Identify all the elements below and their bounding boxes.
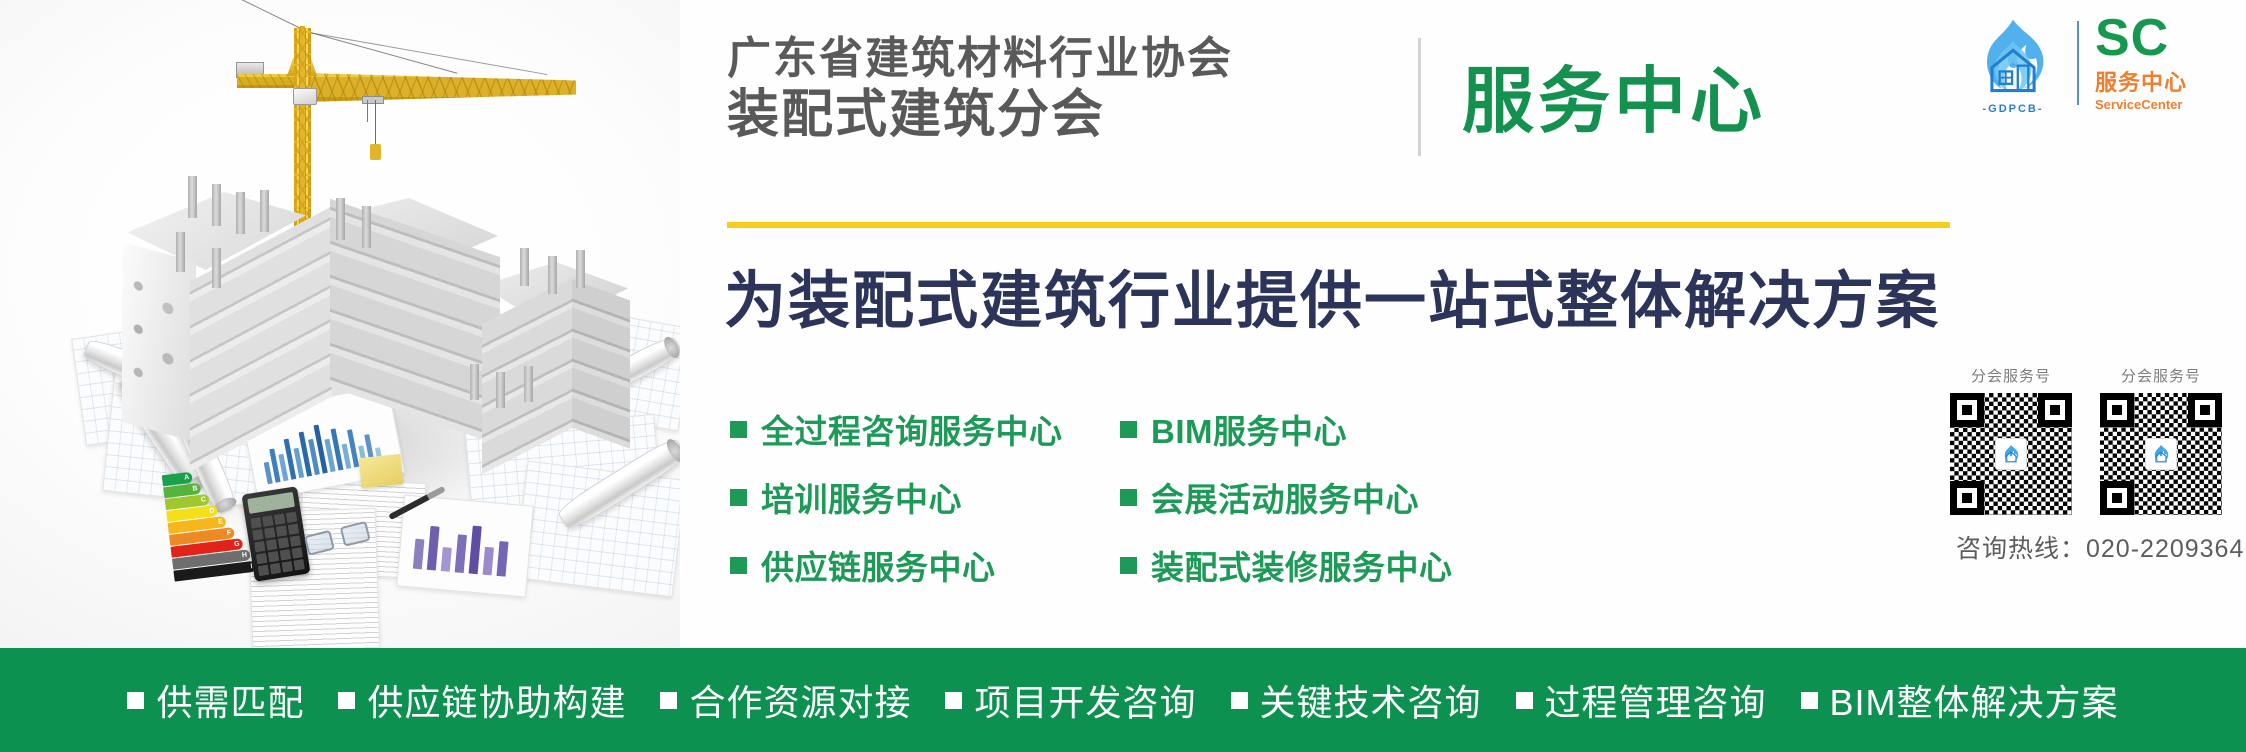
calculator-keypad bbox=[250, 512, 305, 576]
association-title: 广东省建筑材料行业协会 装配式建筑分会 bbox=[727, 36, 1233, 143]
service-list-right: BIM服务中心 会展活动服务中心 装配式装修服务中心 bbox=[1120, 395, 1453, 599]
page-headline: 为装配式建筑行业提供一站式整体解决方案 bbox=[724, 250, 1940, 340]
sc-english-label: ServiceCenter bbox=[2095, 97, 2217, 112]
building-tower-facade bbox=[572, 279, 630, 448]
sc-chinese-label: 服务中心 bbox=[2095, 65, 2217, 97]
service-item-label: 装配式装修服务中心 bbox=[1151, 541, 1453, 589]
qr-caption: 分会服务号 bbox=[2100, 365, 2222, 386]
banner-content: 广东省建筑材料行业协会 装配式建筑分会 服务中心 为装配式建筑行业提供一站式整体… bbox=[680, 0, 2246, 648]
qr-center-logo-icon bbox=[2000, 443, 2022, 465]
bullet-square-icon bbox=[730, 557, 747, 574]
hotline-text: 咨询热线：020-22093641 bbox=[1950, 529, 2246, 565]
energy-rating-chart: A B C D E F G H I bbox=[162, 465, 257, 582]
footer-item[interactable]: 过程管理咨询 bbox=[1516, 674, 1767, 726]
calculator-screen bbox=[247, 492, 295, 514]
service-item-label: 供应链服务中心 bbox=[761, 541, 996, 589]
qr-finder-pattern bbox=[1950, 393, 1984, 427]
service-item-label: 会展活动服务中心 bbox=[1151, 473, 1419, 521]
crane-cab bbox=[293, 88, 317, 105]
footer-item[interactable]: 项目开发咨询 bbox=[945, 674, 1196, 726]
service-item[interactable]: 装配式装修服务中心 bbox=[1120, 531, 1453, 599]
footer-item[interactable]: BIM整体解决方案 bbox=[1801, 674, 2119, 726]
qr-finder-pattern bbox=[2188, 393, 2222, 427]
service-list-left: 全过程咨询服务中心 培训服务中心 供应链服务中心 bbox=[730, 395, 1063, 599]
bullet-square-icon bbox=[1801, 692, 1818, 709]
logo-divider bbox=[2077, 21, 2079, 105]
service-item-label: 培训服务中心 bbox=[761, 473, 962, 521]
qr-cell: 分会服务号 bbox=[2100, 365, 2222, 515]
qr-finder-pattern bbox=[2038, 393, 2072, 427]
bullet-square-icon bbox=[127, 692, 144, 709]
bullet-square-icon bbox=[730, 489, 747, 506]
sticky-note bbox=[359, 454, 404, 488]
qr-row: 分会服务号 分会服务号 bbox=[1950, 365, 2246, 515]
house-flame-icon bbox=[1965, 12, 2061, 104]
gdpcb-logo: -GDPCB- bbox=[1965, 12, 2061, 114]
gdpcb-logo-text: -GDPCB- bbox=[1965, 103, 2061, 115]
footer-item-label: BIM整体解决方案 bbox=[1830, 674, 2119, 726]
sc-logo: SC 服务中心 ServiceCenter bbox=[2095, 14, 2217, 112]
yellow-divider bbox=[727, 222, 1950, 228]
service-item-label: BIM服务中心 bbox=[1151, 405, 1347, 453]
service-item[interactable]: 会展活动服务中心 bbox=[1120, 463, 1453, 531]
bullet-square-icon bbox=[1120, 489, 1137, 506]
qr-code-icon[interactable] bbox=[1950, 393, 2072, 515]
qr-code-icon[interactable] bbox=[2100, 393, 2222, 515]
qr-block: 分会服务号 分会服务号 bbox=[1950, 365, 2246, 565]
bullet-square-icon bbox=[1120, 557, 1137, 574]
crane-hook bbox=[370, 144, 381, 160]
association-name-line1: 广东省建筑材料行业协会 bbox=[727, 36, 1233, 83]
qr-finder-pattern bbox=[2100, 393, 2134, 427]
crane-cable bbox=[303, 31, 547, 75]
qr-cell: 分会服务号 bbox=[1950, 365, 2072, 515]
service-item[interactable]: 全过程咨询服务中心 bbox=[730, 395, 1063, 463]
footer-item[interactable]: 关键技术咨询 bbox=[1231, 674, 1482, 726]
footer-item-label: 项目开发咨询 bbox=[974, 674, 1196, 726]
logo-block: -GDPCB- SC 服务中心 ServiceCenter bbox=[1965, 12, 2217, 114]
bar-chart-graphic bbox=[413, 517, 521, 578]
bullet-square-icon bbox=[1516, 692, 1533, 709]
bullet-square-icon bbox=[1120, 421, 1137, 438]
crane-cable bbox=[240, 0, 305, 31]
service-item[interactable]: 培训服务中心 bbox=[730, 463, 1063, 531]
bullet-square-icon bbox=[1231, 692, 1248, 709]
crane-trolley bbox=[362, 96, 384, 104]
title-vertical-divider bbox=[1418, 38, 1421, 156]
footer-item-label: 关键技术咨询 bbox=[1260, 674, 1482, 726]
bullet-square-icon bbox=[730, 421, 747, 438]
footer-item-label: 供需匹配 bbox=[156, 674, 304, 726]
chart-sheet bbox=[396, 495, 534, 598]
service-item[interactable]: BIM服务中心 bbox=[1120, 395, 1453, 463]
footer-bar: 供需匹配 供应链协助构建 合作资源对接 项目开发咨询 关键技术咨询 过程管理咨询… bbox=[0, 648, 2246, 752]
building-windows bbox=[122, 242, 196, 442]
blueprint-sheet bbox=[513, 461, 680, 598]
service-center-title: 服务中心 bbox=[1462, 42, 1766, 147]
footer-item[interactable]: 供应链协助构建 bbox=[338, 674, 626, 726]
footer-item-label: 合作资源对接 bbox=[689, 674, 911, 726]
footer-item[interactable]: 合作资源对接 bbox=[660, 674, 911, 726]
footer-item[interactable]: 供需匹配 bbox=[127, 674, 304, 726]
crane-jib-lattice bbox=[303, 73, 576, 102]
hero-construction-image: A B C D E F G H I bbox=[0, 0, 680, 648]
association-name-line2: 装配式建筑分会 bbox=[727, 87, 1233, 143]
service-item[interactable]: 供应链服务中心 bbox=[730, 531, 1063, 599]
qr-center-logo-icon bbox=[2150, 443, 2172, 465]
crane-cable bbox=[303, 30, 457, 74]
bullet-square-icon bbox=[338, 692, 355, 709]
bullet-square-icon bbox=[660, 692, 677, 709]
qr-finder-pattern bbox=[1950, 481, 1984, 515]
crane-hook-line bbox=[375, 100, 376, 148]
footer-item-label: 过程管理咨询 bbox=[1545, 674, 1767, 726]
crane-hook-line bbox=[367, 100, 368, 122]
qr-finder-pattern bbox=[2100, 481, 2134, 515]
sc-abbreviation: SC bbox=[2095, 14, 2217, 64]
footer-item-list: 供需匹配 供应链协助构建 合作资源对接 项目开发咨询 关键技术咨询 过程管理咨询… bbox=[127, 674, 2118, 726]
bullet-square-icon bbox=[945, 692, 962, 709]
footer-item-label: 供应链协助构建 bbox=[367, 674, 626, 726]
service-item-label: 全过程咨询服务中心 bbox=[761, 405, 1063, 453]
qr-caption: 分会服务号 bbox=[1950, 365, 2072, 386]
